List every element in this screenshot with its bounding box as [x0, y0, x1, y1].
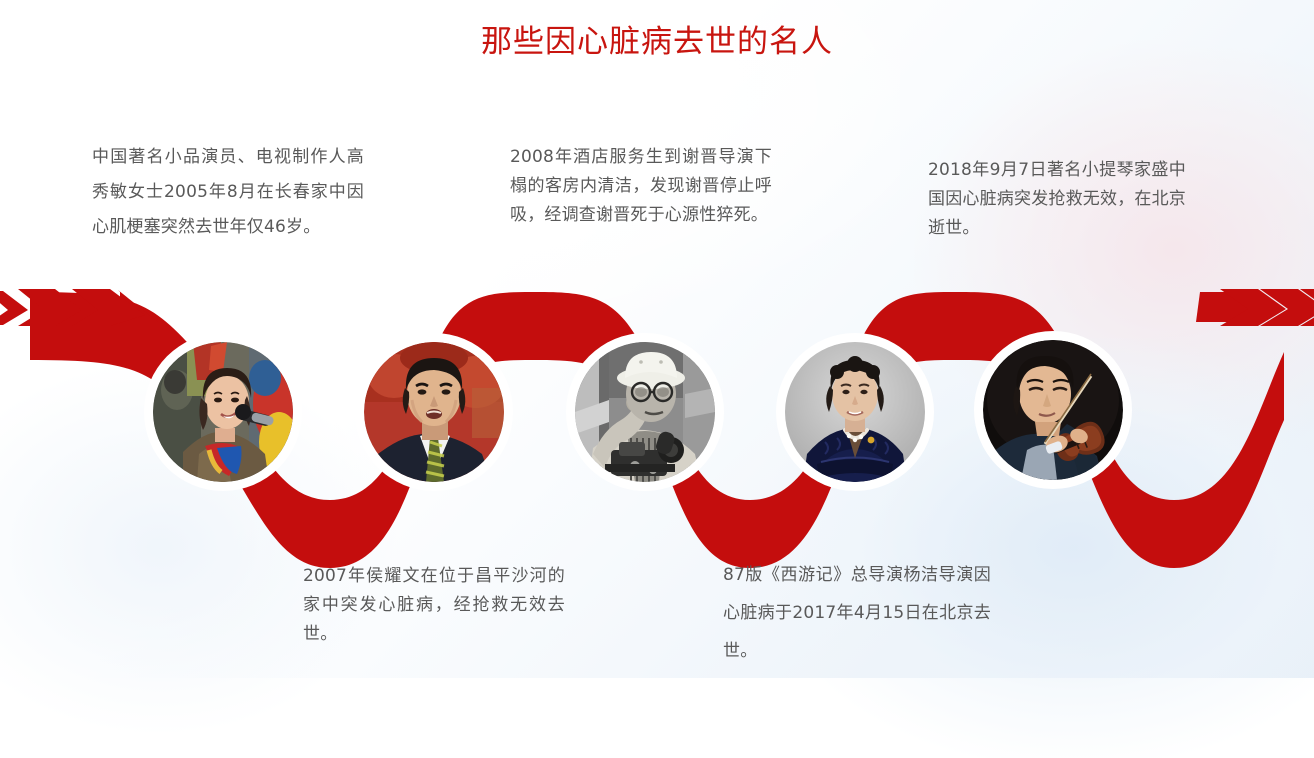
caption-xie-jin: 2008年酒店服务生到谢晋导演下榻的客房内清洁，发现谢晋停止呼吸，经调查谢晋死于… [510, 143, 772, 230]
page-title: 那些因心脏病去世的名人 [0, 24, 1314, 61]
portrait-hou-yaowen[interactable] [364, 342, 504, 482]
caption-hou-yaowen: 2007年侯耀文在位于昌平沙河的家中突发心脏病，经抢救无效去世。 [303, 562, 565, 649]
portrait-gao-xiumin-image [153, 342, 293, 482]
caption-gao-xiumin: 中国著名小品演员、电视制作人高秀敏女士2005年8月在长春家中因心肌梗塞突然去世… [92, 140, 364, 245]
portrait-xie-jin-image [575, 342, 715, 482]
caption-yang-jie: 87版《西游记》总导演杨洁导演因心脏病于2017年4月15日在北京去世。 [723, 556, 991, 670]
portrait-gao-xiumin[interactable] [153, 342, 293, 482]
background-gradient [0, 0, 1314, 678]
caption-sheng-zhongguo: 2018年9月7日著名小提琴家盛中国因心脏病突发抢救无效，在北京逝世。 [928, 156, 1186, 243]
portrait-yang-jie[interactable] [785, 342, 925, 482]
portrait-yang-jie-image [785, 342, 925, 482]
portrait-sheng-zhongguo-image [983, 340, 1123, 480]
portrait-xie-jin[interactable] [575, 342, 715, 482]
portrait-hou-yaowen-image [364, 342, 504, 482]
portrait-sheng-zhongguo[interactable] [983, 340, 1123, 480]
